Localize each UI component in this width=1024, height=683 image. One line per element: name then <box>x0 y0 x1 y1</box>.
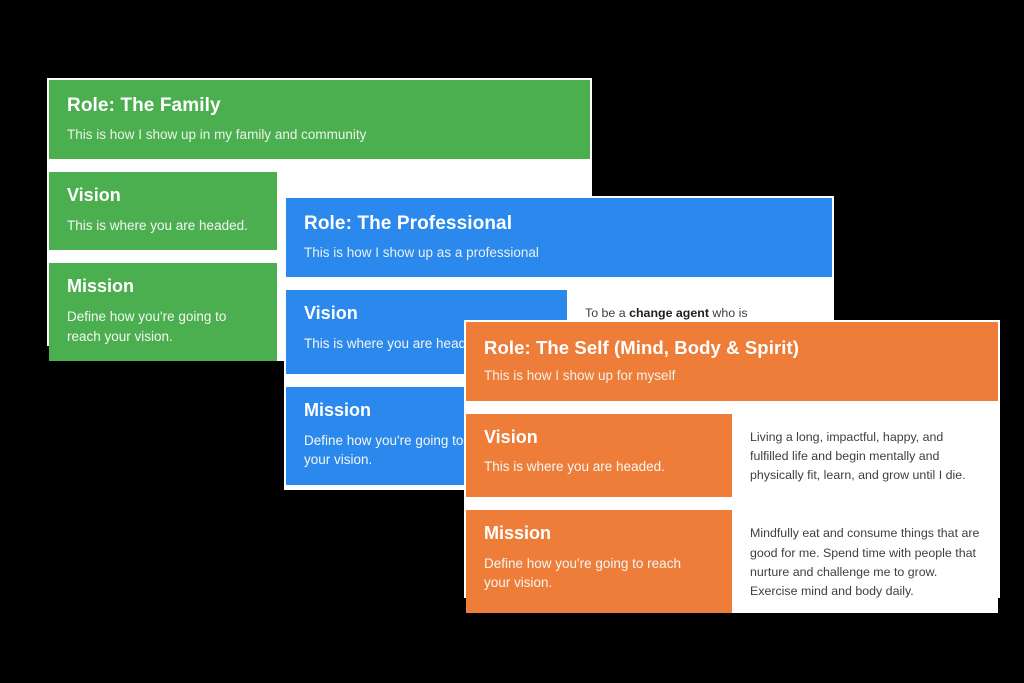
vision-value[interactable]: Living a long, impactful, happy, and ful… <box>732 414 998 498</box>
vision-label: Vision <box>67 185 259 207</box>
mission-label-block: Mission Define how you're going to reach… <box>466 510 732 613</box>
vision-value-prefix: To be a <box>585 306 629 320</box>
role-title: Role: The Self (Mind, Body & Spirit) <box>484 336 980 359</box>
role-card-self[interactable]: Role: The Self (Mind, Body & Spirit) Thi… <box>464 320 1000 598</box>
role-title: Role: The Professional <box>304 212 814 236</box>
role-header-self: Role: The Self (Mind, Body & Spirit) Thi… <box>466 322 998 401</box>
vision-label-block: Vision This is where you are headed. <box>49 172 277 250</box>
mission-label: Mission <box>484 523 714 545</box>
mission-row: Mission Define how you're going to reach… <box>466 510 998 613</box>
role-subtitle: This is how I show up as a professional <box>304 244 814 262</box>
role-subtitle: This is how I show up in my family and c… <box>67 126 572 144</box>
mission-hint: Define how you're going to reach your vi… <box>67 307 259 346</box>
row-gap <box>286 277 832 290</box>
vision-value-emphasis: change agent <box>629 306 709 320</box>
row-gap <box>466 401 998 414</box>
mission-value[interactable]: Mindfully eat and consume things that ar… <box>732 510 998 613</box>
vision-row: Vision This is where you are headed. Liv… <box>466 414 998 498</box>
role-header-professional: Role: The Professional This is how I sho… <box>286 198 832 277</box>
mission-label: Mission <box>67 276 259 298</box>
vision-hint: This is where you are headed. <box>67 216 259 236</box>
mission-hint: Define how you're going to reach your vi… <box>484 554 689 593</box>
role-subtitle: This is how I show up for myself <box>484 367 980 385</box>
role-title: Role: The Family <box>67 94 572 118</box>
vision-label-block: Vision This is where you are headed. <box>466 414 732 498</box>
role-header-family: Role: The Family This is how I show up i… <box>49 80 590 159</box>
mission-label-block: Mission Define how you're going to reach… <box>49 263 277 361</box>
slide-canvas: Role: The Family This is how I show up i… <box>0 0 1024 683</box>
vision-hint: This is where you are headed. <box>484 457 689 477</box>
row-gap <box>49 159 590 172</box>
row-gap <box>466 497 998 510</box>
vision-label: Vision <box>484 427 714 449</box>
